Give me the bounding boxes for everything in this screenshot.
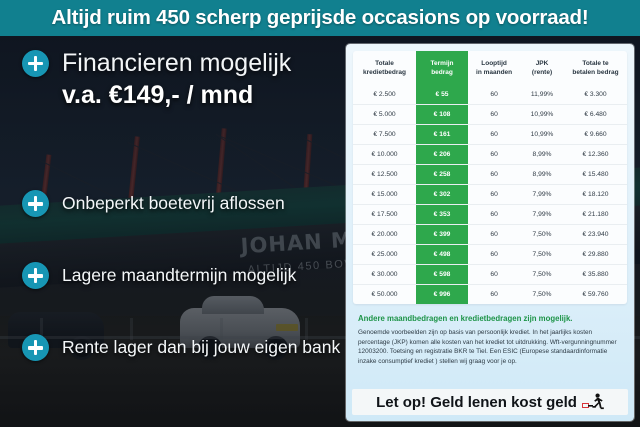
header-line: bedrag	[431, 69, 453, 76]
table-cell: € 18.120	[564, 185, 627, 205]
table-cell: € 353	[416, 205, 468, 225]
hero-row: Financieren mogelijk	[22, 48, 342, 78]
table-row: € 25.000€ 498607,50%€ 29.880	[353, 245, 627, 265]
column-header-duration: Looptijdin maanden	[468, 51, 520, 85]
credit-table-head: Totalekredietbedrag Termijnbedrag Loopti…	[353, 51, 627, 85]
table-cell: 60	[468, 85, 520, 105]
credit-table-container: Totalekredietbedrag Termijnbedrag Loopti…	[353, 51, 627, 304]
feature-label: Lagere maandtermijn mogelijk	[62, 265, 296, 286]
table-cell: 60	[468, 205, 520, 225]
table-cell: 8,99%	[520, 165, 564, 185]
table-cell: € 30.000	[353, 265, 416, 285]
credit-info-card: Totalekredietbedrag Termijnbedrag Loopti…	[346, 44, 634, 421]
warning-banner: Let op! Geld lenen kost geld	[352, 389, 628, 415]
table-cell: 7,50%	[520, 225, 564, 245]
table-cell: € 12.500	[353, 165, 416, 185]
header-line: kredietbedrag	[363, 69, 406, 76]
table-cell: 8,99%	[520, 145, 564, 165]
hero-line-1: Financieren mogelijk	[62, 48, 291, 78]
table-cell: € 10.000	[353, 145, 416, 165]
table-header-row: Totalekredietbedrag Termijnbedrag Loopti…	[353, 51, 627, 85]
plus-circle-icon	[22, 262, 49, 289]
table-cell: € 21.180	[564, 205, 627, 225]
table-cell: 10,99%	[520, 105, 564, 125]
table-cell: € 20.000	[353, 225, 416, 245]
table-cell: 60	[468, 125, 520, 145]
table-row: € 5.000€ 1086010,99%€ 6.480	[353, 105, 627, 125]
table-cell: € 7.500	[353, 125, 416, 145]
table-row: € 17.500€ 353607,99%€ 21.180	[353, 205, 627, 225]
table-row: € 30.000€ 598607,50%€ 35.880	[353, 265, 627, 285]
feature-item-2: Lagere maandtermijn mogelijk	[22, 262, 296, 289]
table-row: € 2.500€ 556011,99%€ 3.300	[353, 85, 627, 105]
header-line: Totale	[375, 60, 394, 67]
column-header-monthly-amount: Termijnbedrag	[416, 51, 468, 85]
table-row: € 50.000€ 996607,50%€ 59.760	[353, 285, 627, 305]
header-line: Looptijd	[481, 60, 507, 67]
table-cell: € 161	[416, 125, 468, 145]
table-cell: € 15.480	[564, 165, 627, 185]
table-cell: € 25.000	[353, 245, 416, 265]
table-cell: € 3.300	[564, 85, 627, 105]
column-header-total-payable: Totale tebetalen bedrag	[564, 51, 627, 85]
table-cell: 7,99%	[520, 205, 564, 225]
disclaimer-title: Andere maandbedragen en kredietbedragen …	[358, 313, 622, 324]
table-cell: € 108	[416, 105, 468, 125]
disclaimer-block: Andere maandbedragen en kredietbedragen …	[358, 313, 622, 366]
plus-circle-icon	[22, 334, 49, 361]
table-cell: € 23.940	[564, 225, 627, 245]
table-cell: 7,99%	[520, 185, 564, 205]
table-cell: 7,50%	[520, 285, 564, 305]
table-row: € 7.500€ 1616010,99%€ 9.660	[353, 125, 627, 145]
table-cell: € 15.000	[353, 185, 416, 205]
table-row: € 10.000€ 206608,99%€ 12.360	[353, 145, 627, 165]
headline-bar: Altijd ruim 450 scherp geprijsde occasio…	[0, 0, 640, 36]
table-cell: 60	[468, 285, 520, 305]
table-cell: € 6.480	[564, 105, 627, 125]
header-line: (rente)	[532, 69, 552, 76]
table-cell: € 55	[416, 85, 468, 105]
table-cell: € 59.760	[564, 285, 627, 305]
header-line: betalen bedrag	[572, 69, 618, 76]
table-cell: € 50.000	[353, 285, 416, 305]
table-cell: € 206	[416, 145, 468, 165]
header-line: in maanden	[476, 69, 512, 76]
feature-item-1: Onbeperkt boetevrij aflossen	[22, 190, 285, 217]
financing-banner: Altijd ruim 450 scherp geprijsde occasio…	[0, 0, 640, 427]
feature-item-3: Rente lager dan bij jouw eigen bank	[22, 334, 340, 361]
table-cell: € 9.660	[564, 125, 627, 145]
table-row: € 15.000€ 302607,99%€ 18.120	[353, 185, 627, 205]
table-cell: € 35.880	[564, 265, 627, 285]
table-cell: € 2.500	[353, 85, 416, 105]
feature-label: Rente lager dan bij jouw eigen bank	[62, 337, 340, 358]
table-cell: € 5.000	[353, 105, 416, 125]
table-cell: € 12.360	[564, 145, 627, 165]
disclaimer-body: Genoemde voorbeelden zijn op basis van p…	[358, 328, 622, 366]
plus-circle-icon	[22, 190, 49, 217]
table-cell: € 598	[416, 265, 468, 285]
table-cell: 60	[468, 185, 520, 205]
table-cell: 60	[468, 145, 520, 165]
credit-table: Totalekredietbedrag Termijnbedrag Loopti…	[353, 51, 627, 304]
table-cell: 7,50%	[520, 265, 564, 285]
feature-label: Onbeperkt boetevrij aflossen	[62, 193, 285, 214]
table-cell: 60	[468, 165, 520, 185]
warning-text: Let op! Geld lenen kost geld	[376, 394, 577, 411]
table-cell: 60	[468, 265, 520, 285]
table-row: € 12.500€ 258608,99%€ 15.480	[353, 165, 627, 185]
table-cell: 60	[468, 225, 520, 245]
hero-block: Financieren mogelijk v.a. €149,- / mnd	[22, 48, 342, 110]
features-column: Financieren mogelijk v.a. €149,- / mnd O…	[0, 36, 348, 427]
table-cell: € 498	[416, 245, 468, 265]
header-line: Termijn	[431, 60, 454, 67]
header-line: Totale te	[582, 60, 608, 67]
running-person-icon	[582, 393, 604, 411]
table-row: € 20.000€ 399607,50%€ 23.940	[353, 225, 627, 245]
table-cell: € 399	[416, 225, 468, 245]
headline-text: Altijd ruim 450 scherp geprijsde occasio…	[52, 6, 589, 30]
table-cell: € 302	[416, 185, 468, 205]
table-cell: € 17.500	[353, 205, 416, 225]
table-cell: 10,99%	[520, 125, 564, 145]
table-cell: 11,99%	[520, 85, 564, 105]
table-cell: 60	[468, 245, 520, 265]
table-cell: € 258	[416, 165, 468, 185]
credit-table-body: € 2.500€ 556011,99%€ 3.300€ 5.000€ 10860…	[353, 85, 627, 304]
table-cell: € 29.880	[564, 245, 627, 265]
plus-circle-icon	[22, 50, 49, 77]
column-header-total-credit: Totalekredietbedrag	[353, 51, 416, 85]
table-cell: 7,50%	[520, 245, 564, 265]
table-cell: € 996	[416, 285, 468, 305]
header-line: JPK	[536, 60, 549, 67]
table-cell: 60	[468, 105, 520, 125]
column-header-jkp: JPK(rente)	[520, 51, 564, 85]
hero-line-2: v.a. €149,- / mnd	[62, 80, 342, 110]
